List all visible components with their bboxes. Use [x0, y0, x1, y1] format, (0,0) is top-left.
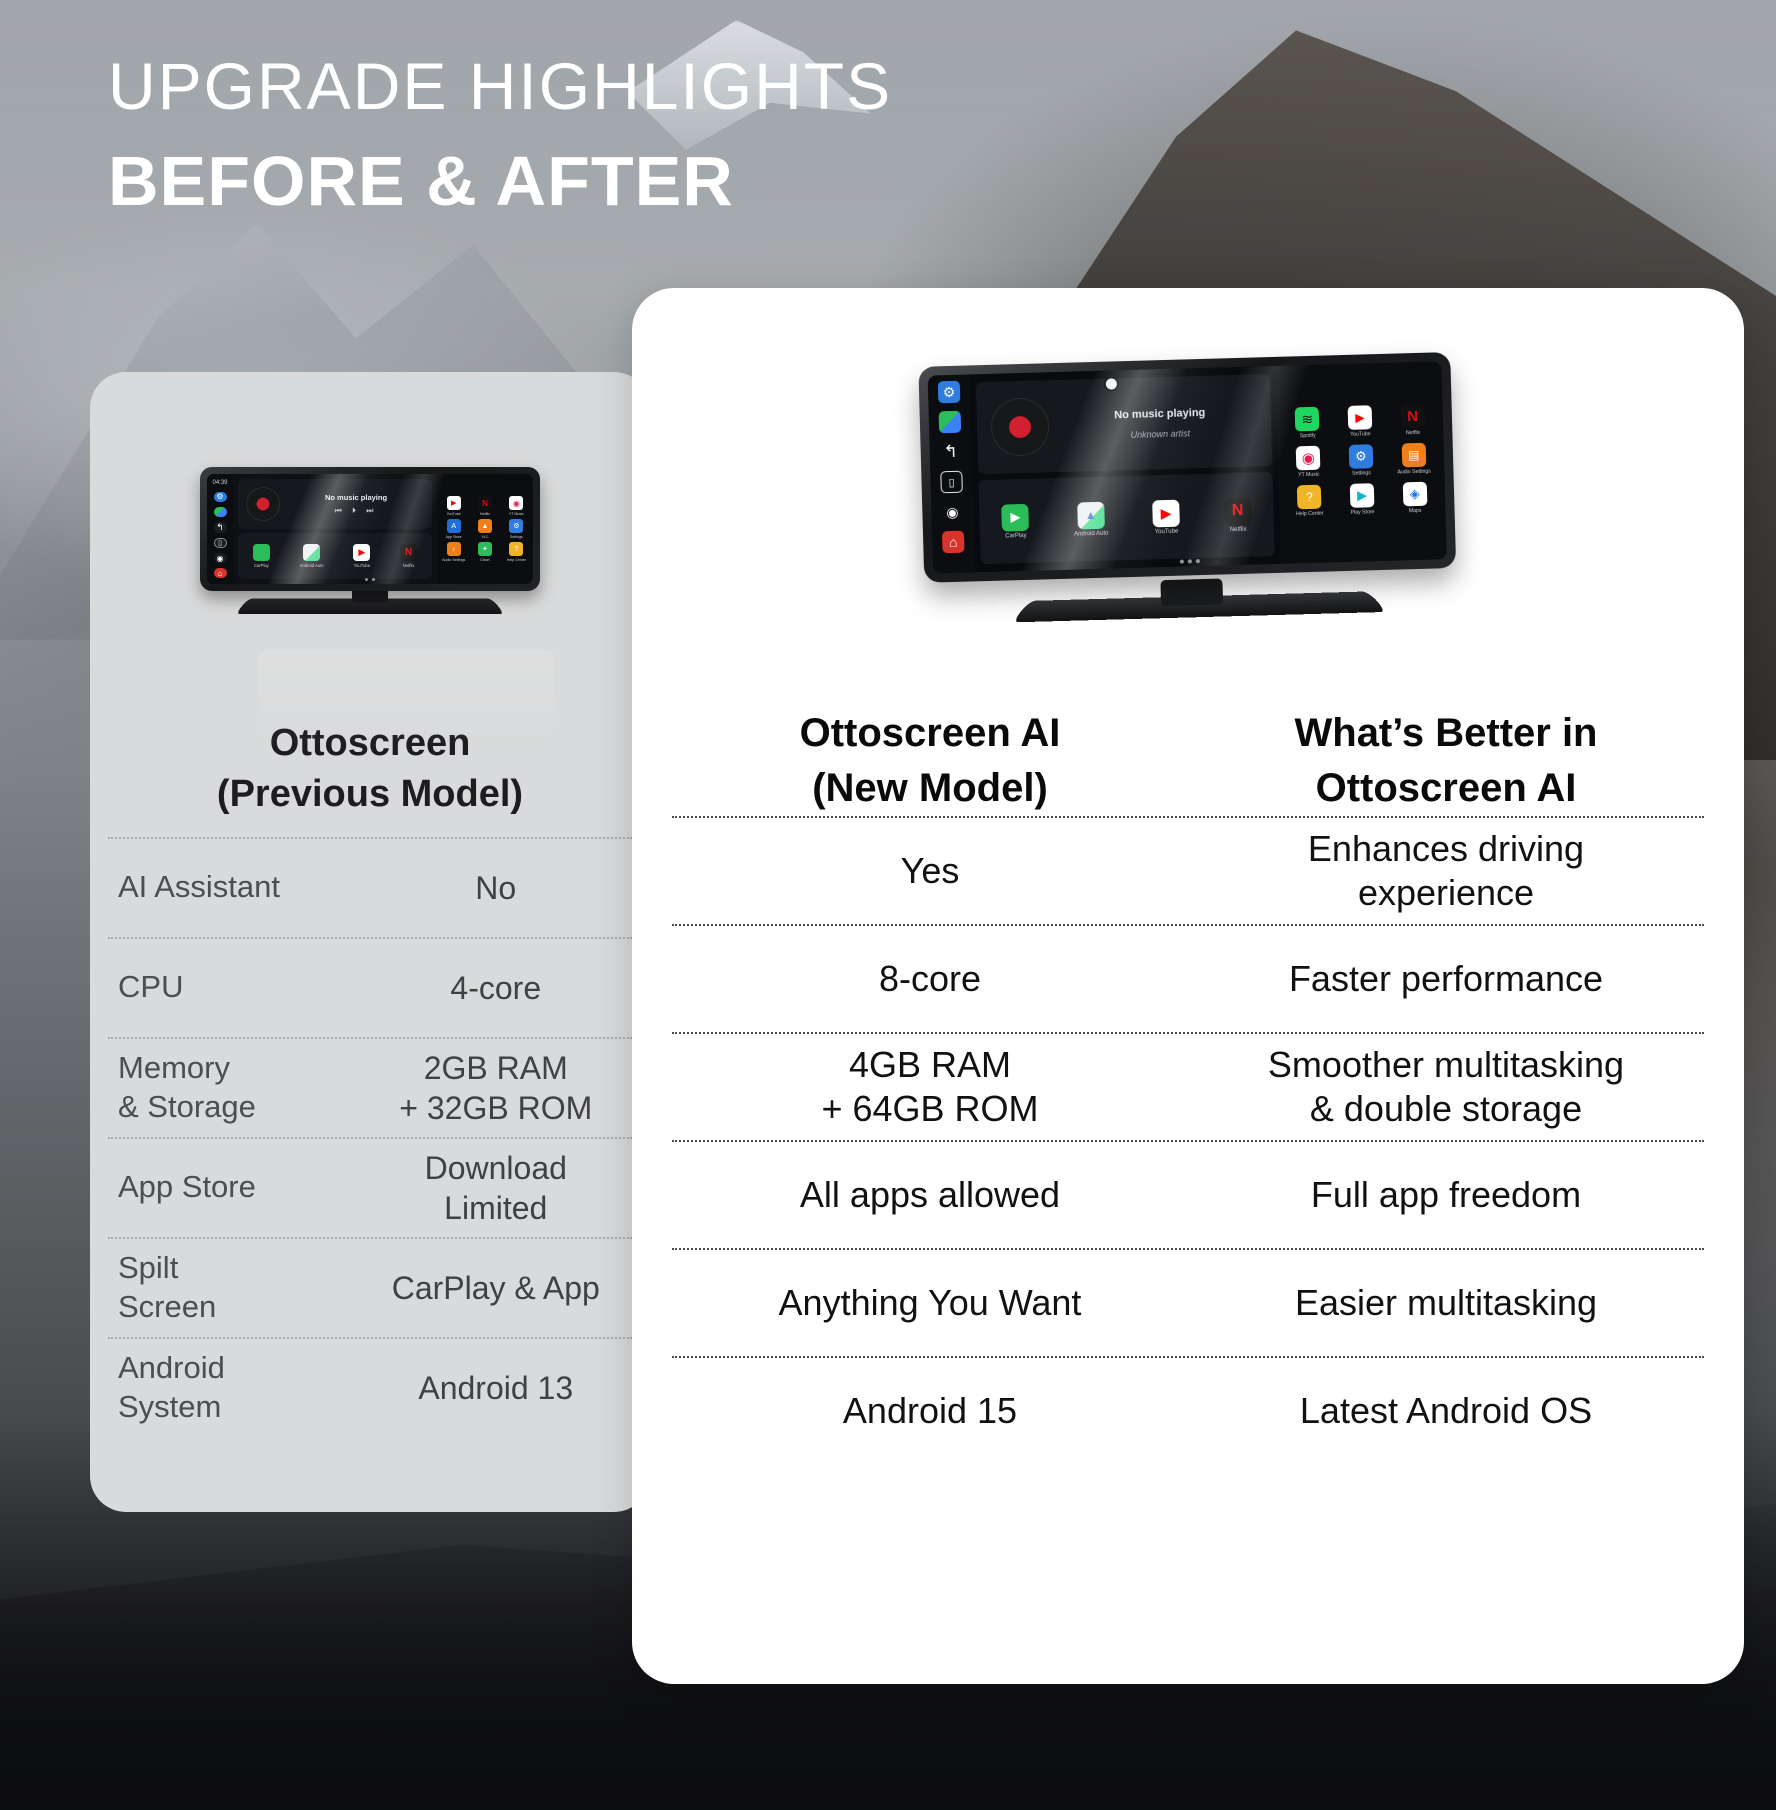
grid-app-play-store[interactable]: ▶Play Store	[1350, 483, 1375, 516]
now-playing-text: No music playing ⏮ ⏵ ⏭	[280, 493, 432, 516]
new-model-value: All apps allowed	[672, 1173, 1188, 1218]
dock-app-label: Netflix	[1230, 526, 1247, 532]
carplay-androidauto-icon[interactable]	[939, 411, 962, 434]
now-playing-card[interactable]: No music playing Unknown artist	[976, 374, 1272, 475]
table-row: App Store DownloadLimited	[108, 1137, 632, 1237]
dock-app-label: CarPlay	[1005, 533, 1027, 540]
grid-app[interactable]: ?Help Center	[507, 542, 526, 562]
previous-model-spec-table: AI Assistant No CPU 4-core Memory& Stora…	[90, 837, 650, 1437]
grid-app[interactable]: ⚙Settings	[509, 519, 523, 539]
benefit-value: Latest Android OS	[1188, 1389, 1704, 1434]
new-model-table-header: Ottoscreen AI (New Model) What’s Better …	[632, 688, 1744, 816]
table-row: CPU 4-core	[108, 937, 632, 1037]
gear-icon[interactable]: ⚙	[214, 492, 227, 502]
spec-value: 4-core	[360, 968, 632, 1008]
table-row: 4GB RAM+ 64GB ROM Smoother multitasking&…	[672, 1032, 1704, 1140]
dock-app-youtube[interactable]: ▶ YouTube	[1152, 499, 1180, 535]
column-header-new-model-line1: Ottoscreen AI	[672, 706, 1188, 761]
grid-app-settings[interactable]: ⚙Settings	[1349, 444, 1374, 477]
new-model-value: 4GB RAM+ 64GB ROM	[672, 1043, 1188, 1132]
spec-label: CPU	[108, 968, 360, 1007]
task-switch-icon[interactable]: ▯	[214, 538, 227, 548]
new-device-image: ⚙ ↰ ▯ ◉ ⌂ No music playing Unknown artis…	[632, 288, 1744, 688]
dock-app-label: Android Auto	[1074, 530, 1109, 537]
spec-value: No	[360, 868, 632, 908]
page-indicator-dots[interactable]	[207, 578, 533, 581]
dock-app-carplay[interactable]: CarPlay	[253, 544, 270, 568]
back-arrow-icon[interactable]: ↰	[214, 522, 227, 533]
dock-app-row: ▶ CarPlay ▲ Android Auto ▶ YouTube	[979, 472, 1275, 564]
table-row: 8-core Faster performance	[672, 924, 1704, 1032]
now-playing-title: No music playing	[1049, 405, 1271, 423]
previous-model-title-line2: (Previous Model)	[108, 769, 632, 820]
new-device-mockup: ⚙ ↰ ▯ ◉ ⌂ No music playing Unknown artis…	[918, 351, 1485, 637]
home-icon[interactable]: ⌂	[942, 531, 965, 554]
grid-app-spotify[interactable]: ≋Spotify	[1295, 407, 1320, 440]
dock-app-row: CarPlay Android Auto ▶ YouTube	[238, 533, 432, 579]
screen-app-grid: ▶YouTube NNetflix ◉YT Music AApp Store ▲…	[437, 474, 533, 584]
grid-app-audio-settings[interactable]: ▤Audio Settings	[1397, 443, 1431, 476]
table-row: AndroidSystem Android 13	[108, 1337, 632, 1437]
benefit-value: Easier multitasking	[1188, 1281, 1704, 1326]
previous-device-image: 04:39 ⚙ ↰ ▯ ◉ ⌂ No music playing	[90, 372, 650, 692]
screen-center-column: No music playing ⏮ ⏵ ⏭ CarPlay A	[233, 474, 437, 584]
home-icon[interactable]: ⌂	[214, 568, 227, 578]
grid-app-yt-music[interactable]: ◉YT Music	[1296, 446, 1321, 479]
grid-app[interactable]: AApp Store	[446, 519, 462, 539]
transport-controls[interactable]: ⏮ ⏵ ⏭	[280, 506, 432, 516]
dock-app-label: YouTube	[1155, 528, 1179, 535]
screen-sidebar[interactable]: ⚙ ↰ ▯ ◉ ⌂	[928, 374, 976, 573]
vinyl-record-icon	[246, 487, 280, 521]
camera-icon[interactable]: ◉	[941, 501, 964, 524]
dock-app-android-auto[interactable]: ▲ Android Auto	[1073, 501, 1108, 537]
screen-sidebar[interactable]: 04:39 ⚙ ↰ ▯ ◉ ⌂	[207, 474, 233, 584]
dock-app-label: Android Auto	[300, 563, 324, 568]
column-header-whats-better-line1: What’s Better in	[1188, 706, 1704, 761]
previous-model-card: 04:39 ⚙ ↰ ▯ ◉ ⌂ No music playing	[90, 372, 650, 1512]
now-playing-artist: Unknown artist	[1049, 426, 1271, 442]
new-model-spec-table: Yes Enhances drivingexperience 8-core Fa…	[632, 816, 1744, 1464]
grid-app[interactable]: ✦Clean	[478, 542, 492, 562]
benefit-value: Enhances drivingexperience	[1188, 827, 1704, 916]
device-bezel: 04:39 ⚙ ↰ ▯ ◉ ⌂ No music playing	[200, 467, 540, 591]
table-row: SpiltScreen CarPlay & App	[108, 1237, 632, 1337]
grid-app-netflix[interactable]: NNetflix	[1400, 404, 1425, 437]
vinyl-record-icon	[990, 397, 1050, 457]
table-row: Memory& Storage 2GB RAM+ 32GB ROM	[108, 1037, 632, 1137]
screen-app-grid: ≋Spotify ▶YouTube NNetflix ◉YT Music ⚙Se…	[1275, 361, 1446, 564]
new-model-value: Anything You Want	[672, 1281, 1188, 1326]
benefit-value: Faster performance	[1188, 957, 1704, 1002]
dock-app-android-auto[interactable]: Android Auto	[300, 544, 324, 568]
spec-label: AndroidSystem	[108, 1349, 360, 1427]
heading-before-after: BEFORE & AFTER	[108, 145, 892, 219]
carplay-androidauto-icon[interactable]	[214, 507, 227, 517]
grid-app[interactable]: ▲VLC	[478, 519, 492, 539]
camera-icon[interactable]: ◉	[214, 553, 227, 563]
now-playing-text: No music playing Unknown artist	[1049, 405, 1272, 442]
table-row: Yes Enhances drivingexperience	[672, 816, 1704, 924]
dock-app-carplay[interactable]: ▶ CarPlay	[1002, 504, 1030, 540]
device-reflection	[258, 650, 554, 750]
grid-app[interactable]: ▶YouTube	[447, 496, 461, 516]
column-header-whats-better-line2: Ottoscreen AI	[1188, 761, 1704, 816]
column-header-whats-better: What’s Better in Ottoscreen AI	[1188, 706, 1704, 816]
new-model-card: ⚙ ↰ ▯ ◉ ⌂ No music playing Unknown artis…	[632, 288, 1744, 1684]
previous-device-mockup: 04:39 ⚙ ↰ ▯ ◉ ⌂ No music playing	[200, 467, 540, 617]
benefit-value: Smoother multitasking& double storage	[1188, 1043, 1704, 1132]
spec-value: CarPlay & App	[360, 1268, 632, 1308]
grid-app[interactable]: ♪Audio Settings	[442, 542, 465, 562]
dock-app-youtube[interactable]: ▶ YouTube	[353, 544, 370, 568]
device-screen: 04:39 ⚙ ↰ ▯ ◉ ⌂ No music playing	[207, 474, 533, 584]
status-time: 04:39	[212, 480, 227, 486]
dock-app-netflix[interactable]: N Netflix	[1224, 497, 1252, 533]
grid-app[interactable]: ◉YT Music	[509, 496, 524, 516]
device-neck	[1160, 578, 1223, 606]
spec-label: App Store	[108, 1168, 360, 1207]
device-bezel: ⚙ ↰ ▯ ◉ ⌂ No music playing Unknown artis…	[918, 352, 1456, 583]
table-row: Anything You Want Easier multitasking	[672, 1248, 1704, 1356]
spec-label: Memory& Storage	[108, 1049, 360, 1127]
device-screen: ⚙ ↰ ▯ ◉ ⌂ No music playing Unknown artis…	[928, 361, 1447, 573]
dock-app-label: YouTube	[354, 563, 370, 568]
now-playing-card[interactable]: No music playing ⏮ ⏵ ⏭	[238, 479, 432, 529]
column-header-new-model: Ottoscreen AI (New Model)	[672, 706, 1188, 816]
gear-icon[interactable]: ⚙	[938, 381, 961, 404]
dock-app-netflix[interactable]: N Netflix	[400, 544, 417, 568]
back-arrow-icon[interactable]: ↰	[939, 441, 962, 464]
spec-label: SpiltScreen	[108, 1249, 360, 1327]
column-header-new-model-line2: (New Model)	[672, 761, 1188, 816]
task-switch-icon[interactable]: ▯	[940, 471, 963, 494]
benefit-value: Full app freedom	[1188, 1173, 1704, 1218]
spec-value: 2GB RAM+ 32GB ROM	[360, 1048, 632, 1128]
grid-app[interactable]: NNetflix	[478, 496, 492, 516]
grid-app-help-center[interactable]: ?Help Center	[1295, 485, 1324, 518]
screen-center-column: No music playing Unknown artist ▶ CarPla…	[970, 366, 1281, 572]
heading-upgrade-highlights: UPGRADE HIGHLIGHTS	[108, 52, 892, 121]
new-model-value: 8-core	[672, 957, 1188, 1002]
table-row: Android 15 Latest Android OS	[672, 1356, 1704, 1464]
spec-value: Android 13	[360, 1368, 632, 1408]
new-model-value: Android 15	[672, 1389, 1188, 1434]
grid-app-youtube[interactable]: ▶YouTube	[1348, 405, 1373, 438]
table-row: All apps allowed Full app freedom	[672, 1140, 1704, 1248]
spec-label: AI Assistant	[108, 868, 360, 907]
headings-block: UPGRADE HIGHLIGHTS BEFORE & AFTER	[108, 52, 892, 219]
spec-value: DownloadLimited	[360, 1148, 632, 1228]
dock-app-label: CarPlay	[254, 563, 269, 568]
now-playing-title: No music playing	[280, 493, 432, 502]
dock-app-label: Netflix	[403, 563, 415, 568]
table-row: AI Assistant No	[108, 837, 632, 937]
new-model-value: Yes	[672, 849, 1188, 894]
grid-app-maps[interactable]: ◈Maps	[1402, 482, 1427, 515]
